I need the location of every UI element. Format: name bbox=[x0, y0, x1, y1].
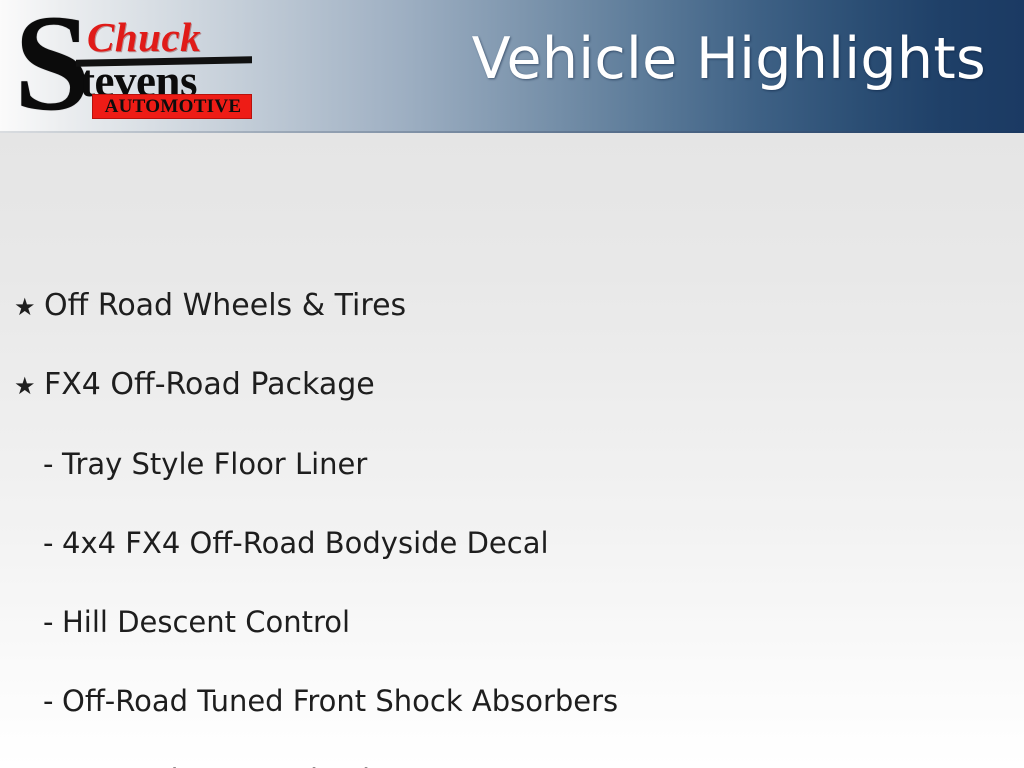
list-item: ★ FX4 Off-Road Package bbox=[0, 366, 375, 405]
dealer-logo[interactable]: S Chuck tevens Automotive bbox=[14, 6, 254, 124]
list-item-label: Tray Style Floor Liner bbox=[62, 445, 367, 483]
list-item: - 4x4 FX4 Off-Road Bodyside Decal bbox=[0, 524, 549, 562]
highlights-list: ★ Off Road Wheels & Tires ★ FX4 Off-Road… bbox=[0, 133, 1024, 768]
list-item: - Off-Road Tuned Front Shock Absorbers bbox=[0, 682, 618, 720]
dash-icon: - bbox=[43, 682, 62, 720]
list-item: - Tray Style Floor Liner bbox=[0, 445, 367, 483]
list-item-label: 4x4 FX4 Off-Road Bodyside Decal bbox=[62, 524, 549, 562]
page-header: S Chuck tevens Automotive Vehicle Highli… bbox=[0, 0, 1024, 133]
star-icon: ★ bbox=[14, 288, 44, 326]
logo-first-name: Chuck bbox=[87, 17, 201, 58]
list-item: ★ Off Road Wheels & Tires bbox=[0, 287, 406, 326]
dash-icon: - bbox=[43, 603, 62, 641]
list-item-label: Hill Descent Control bbox=[62, 603, 350, 641]
list-item-label: Monotube Rear Shocks bbox=[62, 761, 394, 768]
dash-icon: - bbox=[43, 524, 62, 562]
star-icon: ★ bbox=[14, 367, 44, 405]
list-item-label: FX4 Off-Road Package bbox=[44, 366, 375, 404]
dash-icon: - bbox=[43, 761, 62, 768]
dash-icon: - bbox=[43, 445, 62, 483]
logo-tagline-text: Automotive bbox=[98, 96, 248, 117]
list-item: - Monotube Rear Shocks bbox=[0, 761, 394, 768]
list-item-label: Off-Road Tuned Front Shock Absorbers bbox=[62, 682, 618, 720]
list-item-label: Off Road Wheels & Tires bbox=[44, 287, 406, 325]
list-item: - Hill Descent Control bbox=[0, 603, 350, 641]
page-title: Vehicle Highlights bbox=[472, 24, 986, 94]
